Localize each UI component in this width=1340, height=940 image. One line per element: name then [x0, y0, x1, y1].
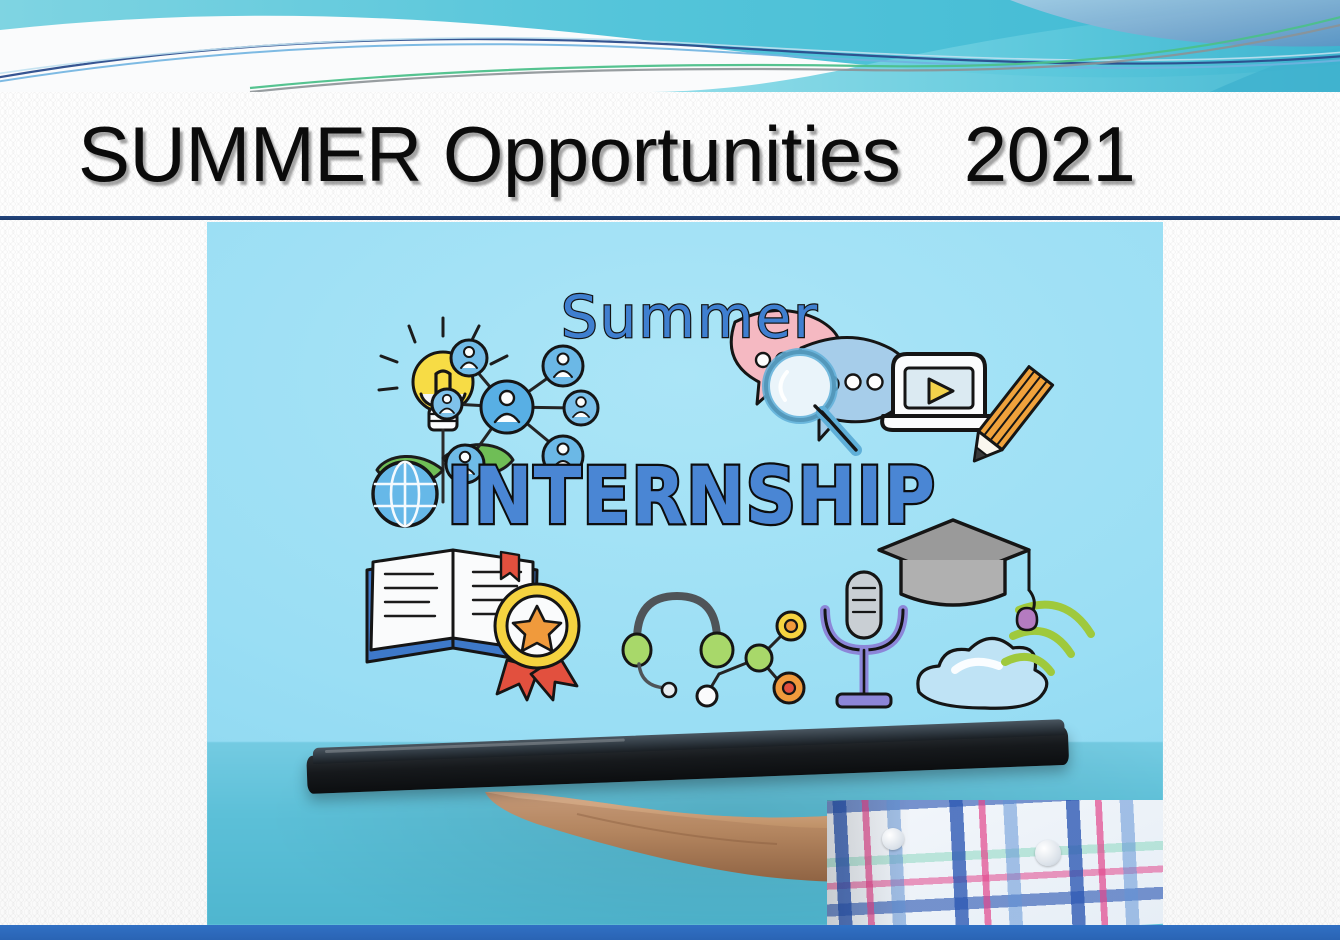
plaid-shirt-cuff [827, 800, 1163, 925]
internship-word-lettering: INTERNSHIP [447, 449, 877, 545]
title-divider-rule [0, 216, 1340, 220]
summer-internship-concept-photo: Summer INTERNSHIP [207, 222, 1163, 925]
title-area: SUMMER Opportunities 2021 [0, 96, 1340, 218]
award-medal-icon [495, 584, 579, 700]
presentation-slide: SUMMER Opportunities 2021 [0, 0, 1340, 940]
cloud-wifi-icon [918, 605, 1091, 709]
shirt-button [882, 828, 904, 850]
tablet-device [307, 748, 1069, 806]
headphones-icon [623, 596, 733, 697]
laptop-video-icon [882, 354, 996, 430]
sleeve-shadow [827, 800, 911, 925]
footer-bar [0, 925, 1340, 940]
summer-word-lettering: Summer [545, 284, 835, 354]
decorative-wave-banner [0, 0, 1340, 92]
shirt-button [1035, 840, 1061, 866]
page-title: SUMMER Opportunities 2021 [78, 102, 1135, 206]
pencil-icon [927, 230, 1053, 470]
globe-icon [373, 462, 437, 526]
microphone-icon [825, 572, 903, 707]
